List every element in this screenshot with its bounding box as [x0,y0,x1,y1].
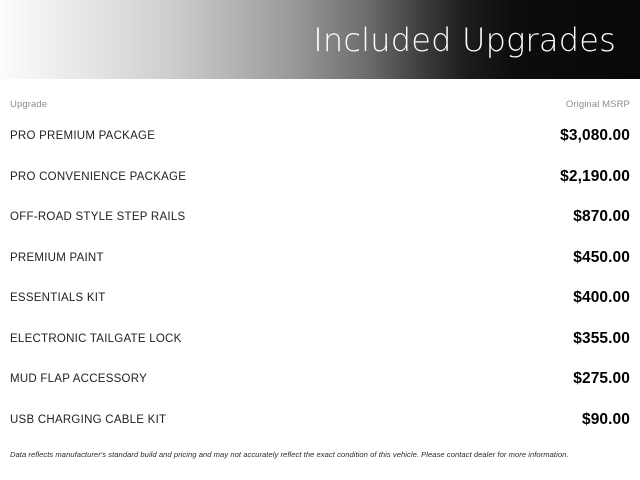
upgrade-price: $90.00 [582,411,630,429]
table-row: ESSENTIALS KIT $400.00 [10,278,630,319]
table-row: MUD FLAP ACCESSORY $275.00 [10,359,630,400]
table-row: OFF-ROAD STYLE STEP RAILS $870.00 [10,197,630,238]
upgrade-name: PREMIUM PAINT [10,252,104,264]
upgrade-name: OFF-ROAD STYLE STEP RAILS [10,211,185,223]
table-body: PRO PREMIUM PACKAGE $3,080.00 PRO CONVEN… [10,116,630,440]
table-row: USB CHARGING CABLE KIT $90.00 [10,400,630,441]
upgrade-name: ESSENTIALS KIT [10,292,106,304]
page-header-banner: Included Upgrades [0,0,640,79]
upgrade-name: MUD FLAP ACCESSORY [10,373,147,385]
upgrades-table: Upgrade Original MSRP PRO PREMIUM PACKAG… [0,79,640,459]
table-row: ELECTRONIC TAILGATE LOCK $355.00 [10,319,630,360]
upgrade-name: PRO CONVENIENCE PACKAGE [10,171,186,183]
upgrade-price: $870.00 [573,208,630,226]
upgrade-name: PRO PREMIUM PACKAGE [10,130,155,142]
disclaimer-text: Data reflects manufacturer's standard bu… [10,450,630,459]
upgrade-name: USB CHARGING CABLE KIT [10,414,166,426]
upgrade-price: $2,190.00 [560,168,630,186]
upgrade-price: $3,080.00 [560,127,630,145]
table-row: PRO PREMIUM PACKAGE $3,080.00 [10,116,630,157]
upgrade-price: $355.00 [573,330,630,348]
table-row: PREMIUM PAINT $450.00 [10,238,630,279]
upgrade-price: $275.00 [573,370,630,388]
column-header-original-msrp: Original MSRP [566,99,630,110]
upgrade-name: ELECTRONIC TAILGATE LOCK [10,333,182,345]
table-column-headers: Upgrade Original MSRP [10,79,630,112]
table-row: PRO CONVENIENCE PACKAGE $2,190.00 [10,157,630,198]
included-upgrades-page: Included Upgrades Upgrade Original MSRP … [0,0,640,480]
upgrade-price: $400.00 [573,289,630,307]
page-title: Included Upgrades [313,24,616,56]
upgrade-price: $450.00 [573,249,630,267]
column-header-upgrade: Upgrade [10,99,47,110]
